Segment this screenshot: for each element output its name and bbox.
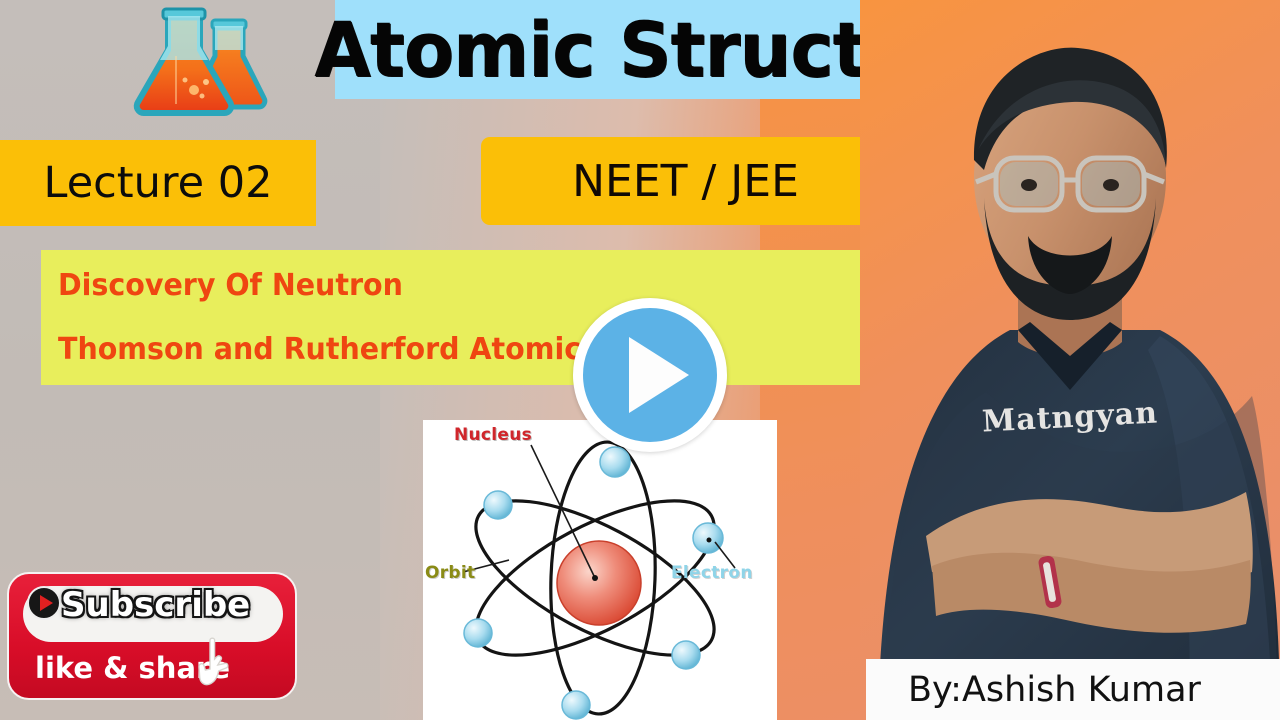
atom-label-electron: Electron	[671, 563, 753, 583]
pointing-hand-icon	[197, 636, 231, 688]
exam-label: NEET / JEE	[572, 156, 799, 207]
video-thumbnail: Atomic Structure Lecture 02 NEET / JEE D…	[0, 0, 1280, 720]
presenter-name: By:Ashish Kumar	[908, 670, 1201, 710]
topics-panel: Discovery Of Neutron Thomson and Rutherf…	[41, 250, 863, 385]
topic-item-1: Discovery Of Neutron	[58, 268, 823, 303]
atom-label-nucleus: Nucleus	[454, 425, 532, 445]
presenter-photo: Matngyan	[860, 0, 1280, 720]
play-triangle-icon	[629, 337, 689, 413]
youtube-play-icon	[27, 586, 61, 620]
subscribe-label: Subscribe	[61, 588, 250, 622]
exam-badge: NEET / JEE	[481, 137, 890, 225]
subscribe-button[interactable]: Subscribe like & share	[7, 572, 297, 700]
play-button[interactable]	[573, 298, 727, 452]
atom-diagram: Nucleus Orbit Electron	[423, 420, 777, 720]
flask-icon	[132, 4, 274, 122]
byline-banner: By:Ashish Kumar	[866, 659, 1280, 720]
lecture-badge: Lecture 02	[0, 140, 316, 226]
atom-label-orbit: Orbit	[425, 563, 475, 583]
lecture-label: Lecture 02	[44, 158, 273, 208]
